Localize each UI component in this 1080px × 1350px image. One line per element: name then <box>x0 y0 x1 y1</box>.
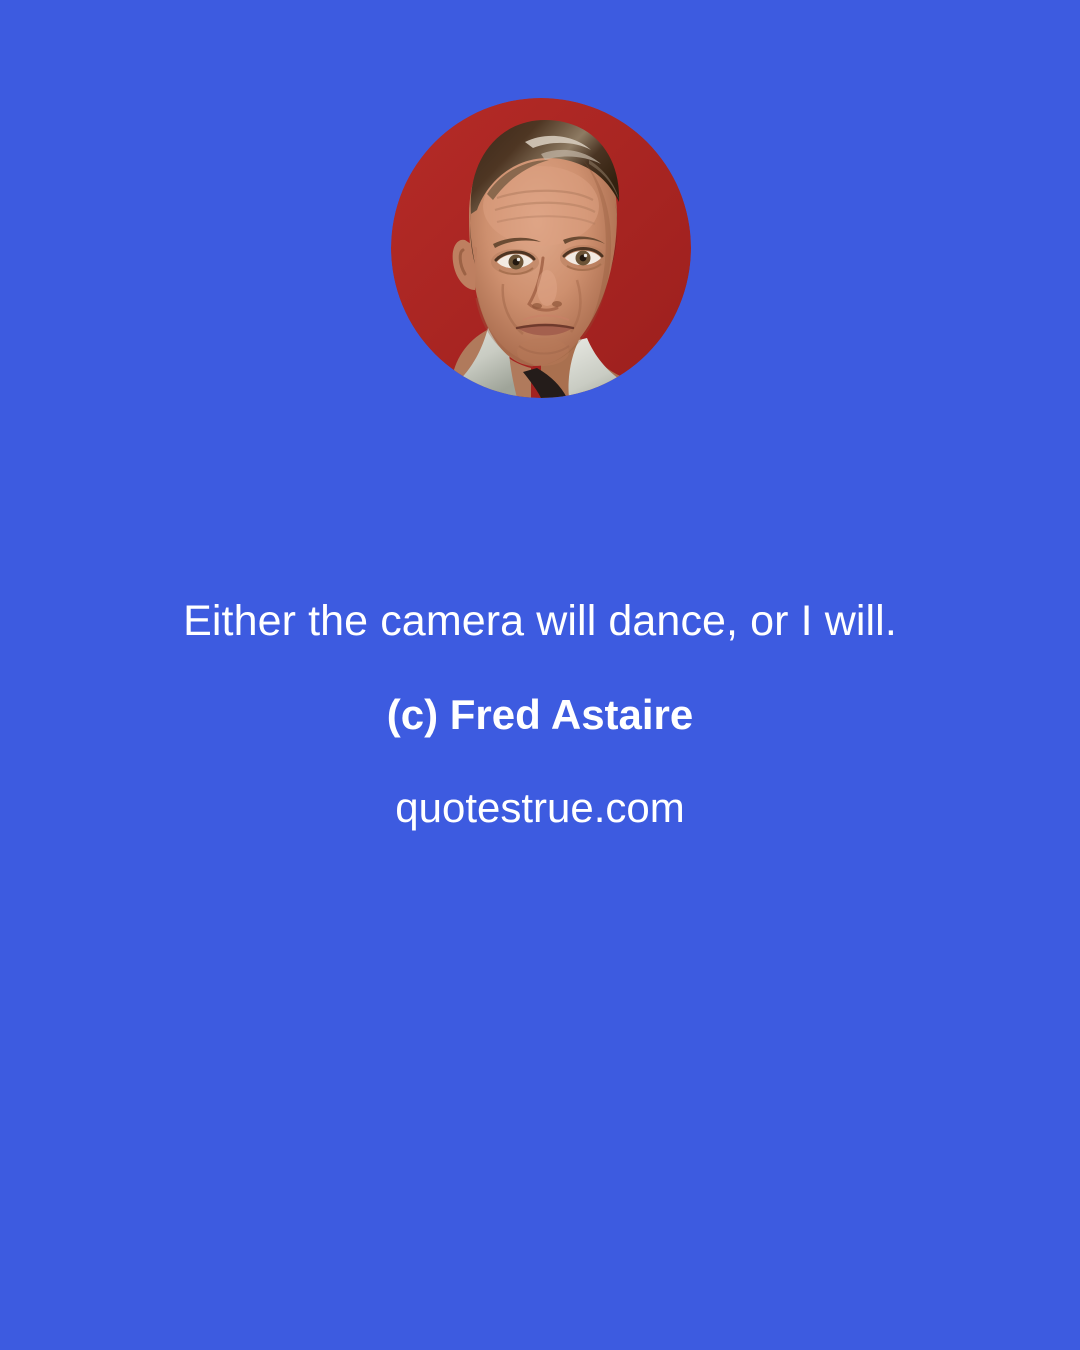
quote-attribution: (c) Fred Astaire <box>0 668 1080 761</box>
quote-text: Either the camera will dance, or I will. <box>0 575 1080 668</box>
source-website: quotestrue.com <box>0 761 1080 854</box>
fred-astaire-portrait <box>391 98 691 398</box>
quote-text-block: Either the camera will dance, or I will.… <box>0 575 1080 854</box>
quote-card: Either the camera will dance, or I will.… <box>0 0 1080 1350</box>
